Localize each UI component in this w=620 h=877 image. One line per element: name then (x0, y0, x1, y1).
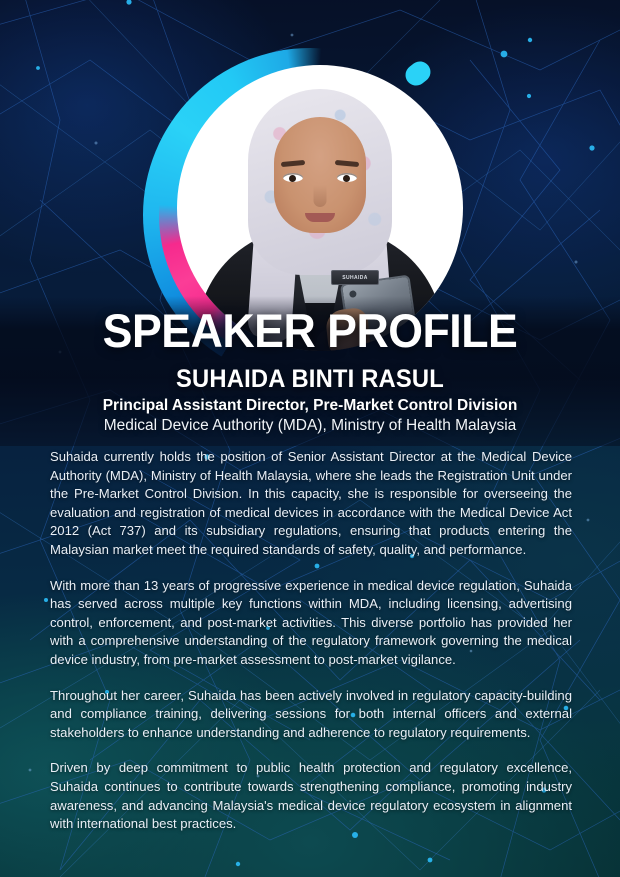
portrait-name-badge: SUHAIDA (331, 270, 379, 285)
bio-paragraph: With more than 13 years of progressive e… (50, 577, 572, 670)
portrait-pupil-right (343, 175, 350, 182)
speaker-role-secondary: Medical Device Authority (MDA), Ministry… (0, 416, 620, 436)
portrait-pupil-left (289, 175, 296, 182)
bio-paragraph: Driven by deep commitment to public heal… (50, 759, 572, 833)
portrait-mouth (305, 213, 335, 222)
bio-paragraph: Throughout her career, Suhaida has been … (50, 687, 572, 743)
speaker-biography: Suhaida currently holds the position of … (50, 448, 572, 834)
portrait-name-badge-label: SUHAIDA (342, 275, 368, 281)
speaker-role-primary: Principal Assistant Director, Pre-Market… (0, 396, 620, 416)
bio-paragraph: Suhaida currently holds the position of … (50, 448, 572, 560)
page-title: SPEAKER PROFILE (16, 306, 605, 356)
portrait-nose (314, 185, 327, 207)
speaker-profile-poster: SUHAIDA SPEAKER PROFILE SUHAIDA BINTI RA… (0, 0, 620, 877)
speaker-name: SUHAIDA BINTI RASUL (16, 365, 605, 393)
